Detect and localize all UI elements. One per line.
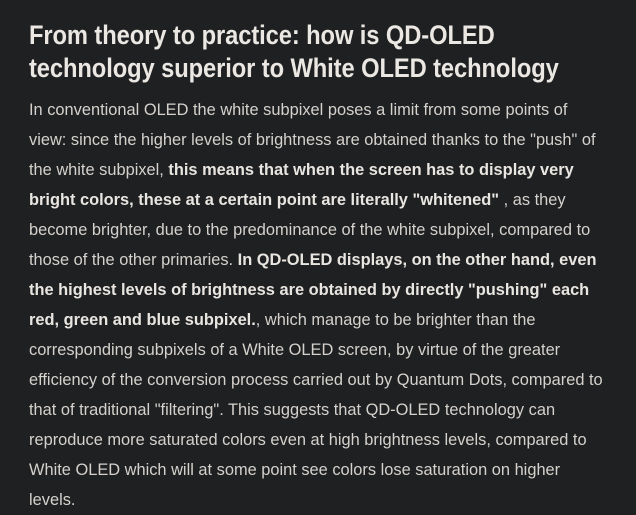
body-run-5: , which manage to be brighter than the c… xyxy=(29,311,603,509)
article-body: In conventional OLED the white subpixel … xyxy=(29,95,605,515)
page-title: From theory to practice: how is QD-OLED … xyxy=(29,19,607,85)
article-container: From theory to practice: how is QD-OLED … xyxy=(0,0,636,514)
